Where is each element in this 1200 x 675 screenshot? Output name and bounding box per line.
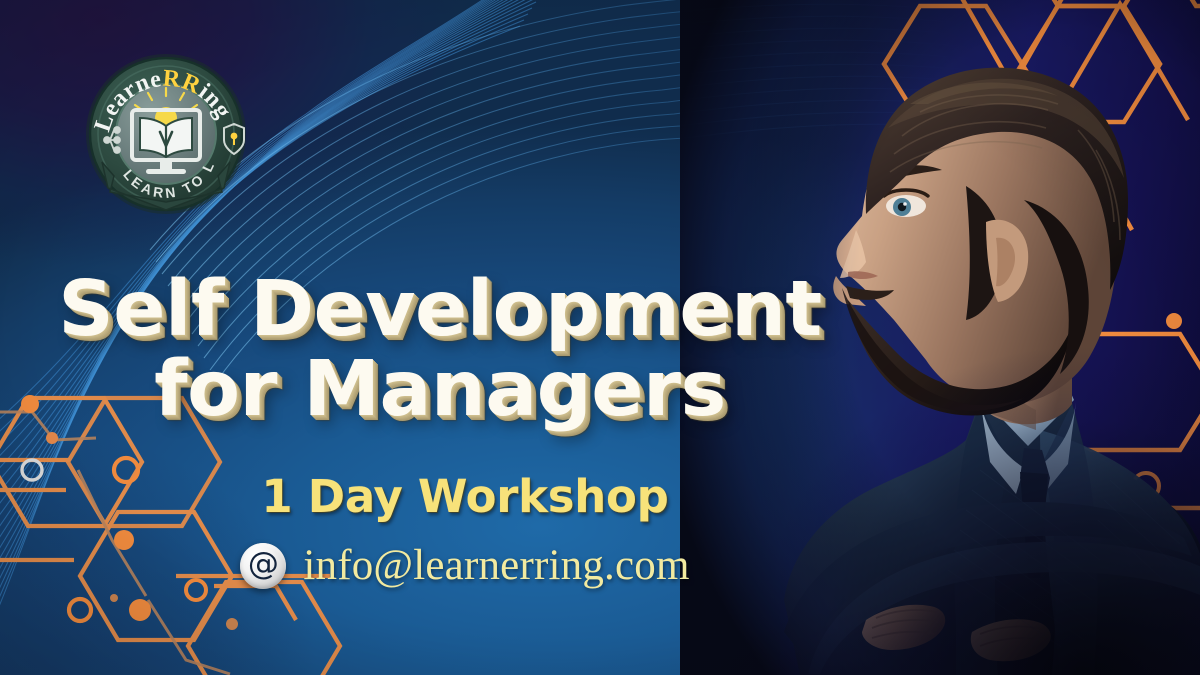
learnerring-logo[interactable]: Learne RR ing — [84, 52, 248, 216]
contact-email[interactable]: info@learnerring.com — [303, 541, 689, 590]
at-sign-glyph: @ — [248, 549, 279, 580]
at-sign-icon: @ — [240, 543, 286, 589]
event-banner: Learne RR ing — [0, 0, 1200, 675]
contact-block: @ info@learnerring.com — [0, 541, 930, 590]
